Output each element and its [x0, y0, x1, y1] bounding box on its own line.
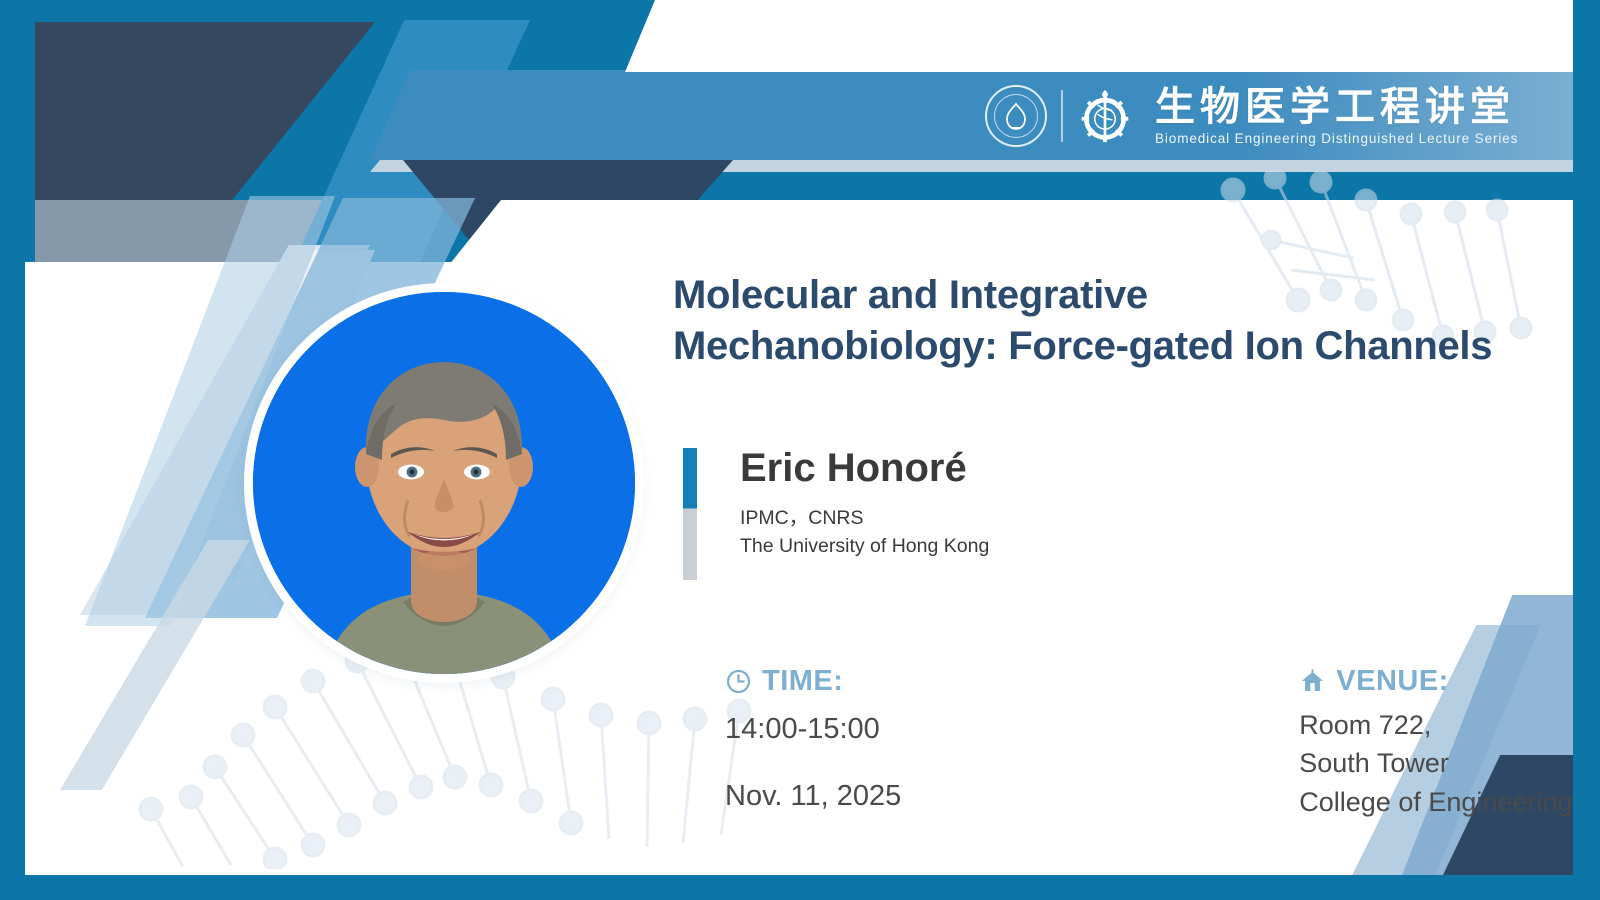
venue-value-line1: Room 722, [1299, 706, 1572, 744]
time-value-line2: Nov. 11, 2025 [725, 773, 901, 820]
speaker-name: Eric Honoré [740, 448, 989, 488]
venue-value-line3: College of Engineering [1299, 783, 1572, 821]
venue-label: VENUE: [1336, 665, 1449, 698]
series-title-en: Biomedical Engineering Distinguished Lec… [1155, 131, 1518, 146]
decor-navy-parallelogram [35, 22, 375, 200]
venue-block: VENUE: Room 722, South Tower College of … [1299, 665, 1572, 821]
time-block: TIME: 14:00-15:00 Nov. 11, 2025 [725, 665, 901, 821]
lecture-title-line1: Molecular and Integrative [673, 273, 1148, 317]
poster-card: 生物医学工程讲堂 Biomedical Engineering Distingu… [25, 0, 1573, 875]
lecture-poster: 生物医学工程讲堂 Biomedical Engineering Distingu… [0, 0, 1600, 900]
series-wordmark: 生物医学工程讲堂 Biomedical Engineering Distingu… [1155, 86, 1518, 146]
header-logo-group: 生物医学工程讲堂 Biomedical Engineering Distingu… [985, 78, 1518, 154]
clock-icon [725, 668, 752, 695]
decor-white-wedge [625, 0, 1573, 72]
speaker-affiliation-line1: IPMC，CNRS [740, 505, 989, 533]
time-value-line1: 14:00-15:00 [725, 706, 901, 753]
university-seal-logo [985, 85, 1047, 147]
series-title-cn: 生物医学工程讲堂 [1155, 86, 1518, 128]
biomedical-engineering-emblem [1077, 88, 1133, 144]
decor-white-below-band [445, 200, 1573, 262]
venue-value-line2: South Tower [1299, 744, 1572, 782]
speaker-portrait [253, 292, 635, 674]
speaker-affiliation-line2: The University of Hong Kong [740, 533, 989, 561]
speaker-block: Eric Honoré IPMC，CNRS The University of … [683, 448, 989, 580]
lecture-title-line2: Mechanobiology: Force-gated Ion Channels [673, 321, 1553, 372]
lecture-title: Molecular and Integrative Mechanobiology… [673, 270, 1553, 372]
speaker-accent-bar [683, 448, 697, 580]
time-label: TIME: [762, 665, 843, 698]
logo-divider [1061, 90, 1063, 142]
home-icon [1299, 668, 1326, 695]
event-details: TIME: 14:00-15:00 Nov. 11, 2025 VENUE: [725, 665, 1545, 821]
